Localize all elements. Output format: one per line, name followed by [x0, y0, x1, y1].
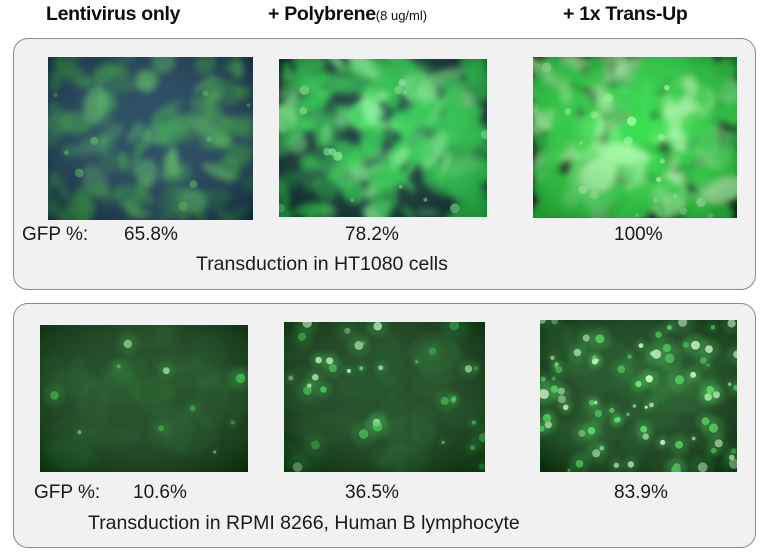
- column-header-label: Lentivirus only: [46, 3, 180, 25]
- column-header-row: Lentivirus only + Polybrene(8 ug/ml) + 1…: [0, 0, 768, 36]
- micrograph-ht1080-lentivirus-only: [48, 57, 253, 220]
- micrograph-ht1080-transup: [533, 57, 737, 218]
- gfp-value-ht1080-lentivirus-only: 65.8%: [124, 224, 178, 246]
- micrograph-rpmi8266-lentivirus-only: [40, 325, 248, 472]
- micrograph-rpmi8266-transup: [540, 320, 737, 472]
- gfp-value-rpmi8266-lentivirus-only: 10.6%: [133, 482, 187, 504]
- column-header-trans-up: + 1x Trans-Up: [563, 3, 688, 26]
- column-header-polybrene: + Polybrene(8 ug/ml): [268, 3, 427, 26]
- micrograph-rpmi8266-polybrene: [284, 322, 485, 472]
- column-header-label: + Polybrene: [268, 3, 376, 25]
- micrograph-ht1080-polybrene: [279, 59, 487, 217]
- column-header-lentivirus-only: Lentivirus only: [46, 3, 180, 26]
- panel-caption-row-1: Transduction in HT1080 cells: [196, 253, 448, 276]
- gfp-value-ht1080-transup: 100%: [614, 224, 663, 246]
- gfp-value-rpmi8266-transup: 83.9%: [614, 482, 668, 504]
- gfp-percent-label-row-1: GFP %:: [22, 224, 88, 246]
- column-header-dose: (8 ug/ml): [376, 8, 427, 23]
- gfp-value-ht1080-polybrene: 78.2%: [345, 224, 399, 246]
- column-header-label: + 1x Trans-Up: [563, 3, 688, 25]
- gfp-value-rpmi8266-polybrene: 36.5%: [345, 482, 399, 504]
- panel-caption-row-2: Transduction in RPMI 8266, Human B lymph…: [88, 512, 520, 535]
- gfp-percent-label-row-2: GFP %:: [34, 482, 100, 504]
